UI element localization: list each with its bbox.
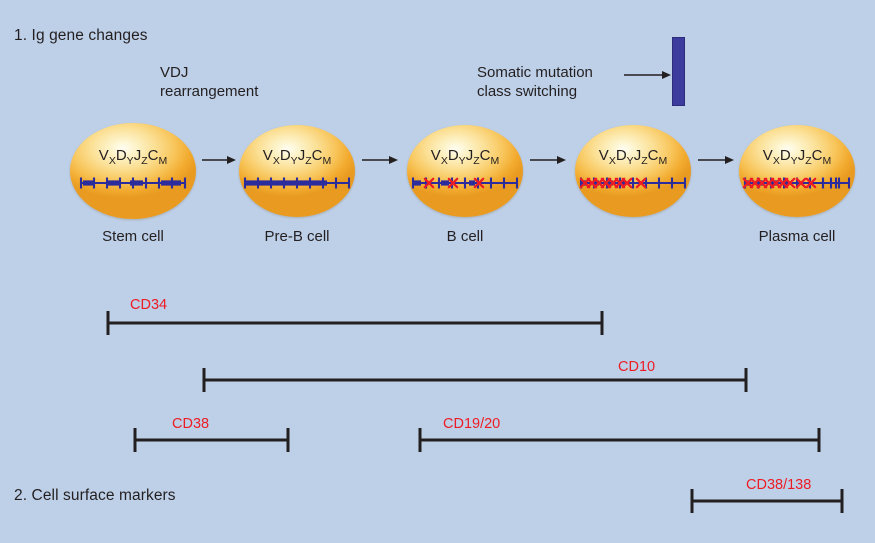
gene-segment-subscript: X (773, 155, 780, 167)
marker-label-cd10: CD10 (618, 359, 655, 375)
cell-b-cell[interactable]: VXDYJZCM (407, 125, 523, 217)
arrow-preb-to-b (362, 153, 404, 167)
process-label-somatic: Somatic mutationclass switching (477, 63, 593, 101)
gene-label-germinal-b-cell: VXDYJZCM (575, 147, 691, 164)
gene-segment-subscript: M (822, 155, 831, 167)
process-label-line: rearrangement (160, 82, 258, 101)
marker-label-cd38-138: CD38/138 (746, 477, 811, 493)
gene-segment: VX (599, 147, 616, 164)
gene-label-stem-cell: VXDYJZCM (70, 147, 196, 164)
gene-segment: JZ (134, 147, 148, 164)
marker-bracket-cd10 (202, 366, 748, 394)
gene-segment-subscript: Z (641, 155, 647, 167)
process-label-line: Somatic mutation (477, 63, 593, 82)
cell-germinal-b-cell[interactable]: VXDYJZCM (575, 125, 691, 217)
gene-segment: CM (480, 147, 500, 164)
arrow-b-to-germinal (530, 153, 572, 167)
gene-segment: JZ (298, 147, 312, 164)
cell-stem-cell[interactable]: VXDYJZCM (70, 123, 196, 219)
gene-segment-subscript: X (109, 155, 116, 167)
cell-caption-pre-b-cell: Pre-B cell (207, 228, 387, 245)
chromosome-bar-plasma-cell (743, 173, 851, 193)
gene-segment-subscript: M (658, 155, 667, 167)
cell-caption-plasma-cell: Plasma cell (707, 228, 875, 245)
marker-label-cd38: CD38 (172, 416, 209, 432)
cell-pre-b-cell[interactable]: VXDYJZCM (239, 125, 355, 217)
gene-segment: JZ (466, 147, 480, 164)
gene-segment-subscript: M (158, 155, 167, 167)
marker-label-cd19-20: CD19/20 (443, 416, 500, 432)
chromosome-bar-stem-cell (79, 173, 187, 193)
chromosome-bar-b-cell (411, 173, 519, 193)
gene-segment: DY (780, 147, 798, 164)
marker-label-cd34: CD34 (130, 297, 167, 313)
gene-segment: CM (148, 147, 168, 164)
gene-segment-subscript: X (273, 155, 280, 167)
arrow-stem-to-preb (202, 153, 242, 167)
somatic-mutation-arrow (624, 68, 677, 82)
gene-segment: CM (812, 147, 832, 164)
chromosome-bar-germinal-b-cell (579, 173, 687, 193)
gene-segment: JZ (634, 147, 648, 164)
gene-segment: CM (648, 147, 668, 164)
cell-caption-b-cell: B cell (375, 228, 555, 245)
gene-segment-subscript: Y (627, 155, 634, 167)
class-switch-bar (672, 37, 685, 106)
marker-bracket-cd34 (106, 309, 604, 337)
gene-segment: DY (116, 147, 134, 164)
gene-segment: VX (99, 147, 116, 164)
gene-segment: DY (616, 147, 634, 164)
gene-segment-subscript: Z (141, 155, 147, 167)
gene-segment-subscript: Y (791, 155, 798, 167)
gene-segment-subscript: Z (805, 155, 811, 167)
section-title-cell-surface-markers: 2. Cell surface markers (14, 487, 176, 505)
gene-segment-subscript: M (490, 155, 499, 167)
gene-segment: VX (263, 147, 280, 164)
cell-plasma-cell[interactable]: VXDYJZCM (739, 125, 855, 217)
gene-segment-subscript: Y (291, 155, 298, 167)
gene-segment: JZ (798, 147, 812, 164)
gene-segment-subscript: Z (305, 155, 311, 167)
process-label-line: class switching (477, 82, 593, 101)
gene-segment-subscript: X (441, 155, 448, 167)
gene-segment: VX (431, 147, 448, 164)
gene-label-pre-b-cell: VXDYJZCM (239, 147, 355, 164)
gene-segment-subscript: M (322, 155, 331, 167)
gene-segment-subscript: Y (459, 155, 466, 167)
gene-label-b-cell: VXDYJZCM (407, 147, 523, 164)
marker-bracket-cd38 (133, 426, 290, 454)
gene-segment: VX (763, 147, 780, 164)
gene-segment-subscript: Y (127, 155, 134, 167)
gene-segment: CM (312, 147, 332, 164)
gene-segment-subscript: Z (473, 155, 479, 167)
diagram-canvas: 1. Ig gene changes 2. Cell surface marke… (0, 0, 875, 543)
process-label-vdj: VDJrearrangement (160, 63, 258, 101)
chromosome-bar-pre-b-cell (243, 173, 351, 193)
gene-segment: DY (280, 147, 298, 164)
gene-segment-subscript: X (609, 155, 616, 167)
gene-label-plasma-cell: VXDYJZCM (739, 147, 855, 164)
cell-caption-stem-cell: Stem cell (43, 228, 223, 245)
arrow-germinal-to-plasma (698, 153, 740, 167)
gene-segment: DY (448, 147, 466, 164)
process-label-line: VDJ (160, 63, 258, 82)
section-title-ig-gene-changes: 1. Ig gene changes (14, 27, 148, 45)
